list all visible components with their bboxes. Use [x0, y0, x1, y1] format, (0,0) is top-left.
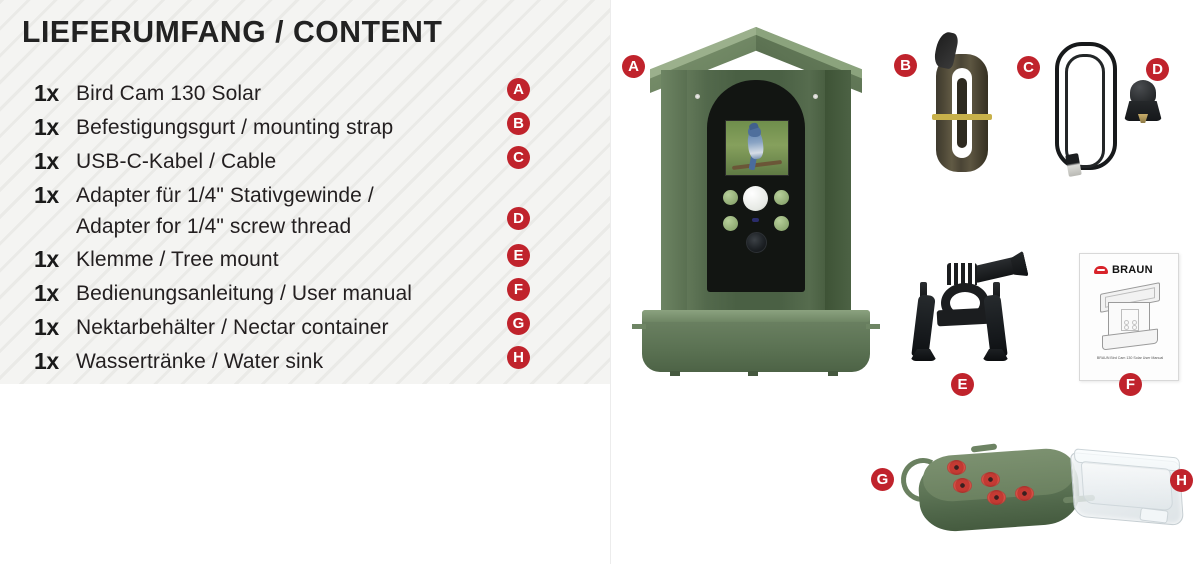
housing-screw	[695, 94, 700, 99]
item-label: Klemme / Tree mount	[76, 244, 504, 275]
item-quantity: 1x	[34, 78, 76, 109]
figure-water-sink: H	[1066, 445, 1191, 545]
mount-leg-left	[911, 294, 935, 358]
item-quantity: 1x	[34, 180, 76, 211]
nectar-flower-port	[981, 472, 1000, 487]
figure-badge-c: C	[1017, 56, 1040, 79]
figure-badge-f: F	[1119, 373, 1142, 396]
figure-tree-mount: E	[899, 253, 1029, 373]
trough-foot	[670, 371, 680, 376]
status-led	[752, 218, 759, 222]
strap-coil	[936, 54, 988, 172]
item-quantity: 1x	[34, 346, 76, 377]
list-badge-b: B	[507, 112, 530, 135]
item-quantity: 1x	[34, 112, 76, 143]
trough-foot	[748, 371, 758, 376]
manual-product-drawing	[1100, 282, 1162, 350]
control-button-top-right[interactable]	[774, 190, 789, 205]
item-names: Nektarbehälter / Nectar container	[76, 312, 574, 343]
lcd-screen	[725, 120, 789, 176]
trough-arm-left	[632, 324, 646, 329]
item-names: Befestigungsgurt / mounting strap	[76, 112, 574, 143]
control-button-bottom-right[interactable]	[774, 216, 789, 231]
item-quantity: 1x	[34, 146, 76, 177]
item-names: Adapter für 1/4" Stativgewinde / Adapter…	[76, 180, 574, 242]
list-item: 1x Befestigungsgurt / mounting strap B	[34, 112, 574, 144]
list-badge-g: G	[507, 312, 530, 335]
figure-badge-g: G	[871, 468, 894, 491]
figure-badge-a: A	[622, 55, 645, 78]
figure-mounting-strap: B	[916, 32, 1008, 182]
nectar-flower-port	[947, 460, 966, 475]
nectar-tab-left	[971, 443, 998, 452]
content-list: 1x Bird Cam 130 Solar A 1x Befestigungsg…	[34, 78, 574, 380]
mount-arm-cap	[1009, 251, 1028, 279]
list-item: 1x Klemme / Tree mount E	[34, 244, 574, 276]
item-names: Bird Cam 130 Solar	[76, 78, 574, 109]
figure-user-manual: F BRAUN BRAUN Bird Cam 130 Solar U	[1071, 253, 1189, 385]
list-item: 1x USB-C-Kabel / Cable C	[34, 146, 574, 178]
nectar-flower-port	[953, 478, 972, 493]
figure-badge-b: B	[894, 54, 917, 77]
item-label: Bedienungsanleitung / User manual	[76, 278, 504, 309]
trough-foot	[828, 371, 838, 376]
figure-tripod-adapter: D	[1118, 80, 1170, 140]
item-label: Adapter für 1/4" Stativgewinde /	[76, 180, 504, 211]
mount-leg-right	[983, 294, 1007, 358]
cable-inner-loop	[1065, 54, 1105, 168]
list-badge-f: F	[507, 278, 530, 301]
brand-name: BRAUN	[1112, 264, 1153, 276]
item-label: Wassertränke / Water sink	[76, 346, 504, 377]
braun-arc-icon	[1094, 266, 1108, 274]
list-badge-a: A	[507, 78, 530, 101]
brand-logo: BRAUN	[1094, 264, 1153, 276]
figure-badge-d: D	[1146, 58, 1169, 81]
nectar-flower-port	[987, 490, 1006, 505]
item-names: Bedienungsanleitung / User manual	[76, 278, 574, 309]
pir-sensor-dome	[743, 186, 768, 211]
item-label: Bird Cam 130 Solar	[76, 78, 504, 109]
list-item: 1x Nektarbehälter / Nectar container G	[34, 312, 574, 344]
item-label: USB-C-Kabel / Cable	[76, 146, 504, 177]
item-quantity: 1x	[34, 244, 76, 275]
mount-clamp-base	[937, 308, 992, 327]
list-badge-h: H	[507, 346, 530, 369]
item-label-second-line: Adapter for 1/4" screw thread	[76, 211, 504, 242]
bird-cam-housing	[661, 70, 851, 320]
figure-badge-h: H	[1170, 469, 1193, 492]
housing-right-post	[825, 70, 851, 320]
water-sink-basin	[1081, 461, 1174, 511]
mount-hinge-fingers	[947, 263, 977, 285]
list-badge-d: D	[507, 207, 530, 230]
housing-left-post	[661, 70, 687, 320]
list-item: 1x Wassertränke / Water sink H	[34, 346, 574, 378]
list-item: 1x Bedienungsanleitung / User manual F	[34, 278, 574, 310]
list-badge-e: E	[507, 244, 530, 267]
nectar-flower-port	[1015, 486, 1034, 501]
product-figures-panel: A	[610, 0, 1197, 564]
drawing-front-panel	[1121, 309, 1139, 331]
content-list-panel: LIEFERUMFANG / CONTENT 1x Bird Cam 130 S…	[0, 0, 610, 384]
branch-shape	[732, 160, 782, 170]
control-button-bottom-left[interactable]	[723, 216, 738, 231]
list-item: 1x Adapter für 1/4" Stativgewinde / Adap…	[34, 180, 574, 242]
drawing-button	[1132, 325, 1137, 330]
bird-cam-front-panel	[707, 80, 805, 292]
list-item: 1x Bird Cam 130 Solar A	[34, 78, 574, 110]
item-label: Befestigungsgurt / mounting strap	[76, 112, 504, 143]
item-names: USB-C-Kabel / Cable	[76, 146, 574, 177]
item-names: Klemme / Tree mount	[76, 244, 574, 275]
feeding-trough	[642, 310, 870, 372]
trough-arm-right	[866, 324, 880, 329]
list-badge-c: C	[507, 146, 530, 169]
adapter-screw-thread	[1138, 114, 1148, 123]
item-names: Wassertränke / Water sink	[76, 346, 574, 377]
figure-badge-e: E	[951, 373, 974, 396]
item-label: Nektarbehälter / Nectar container	[76, 312, 504, 343]
item-quantity: 1x	[34, 278, 76, 309]
housing-screw	[813, 94, 818, 99]
drawing-button	[1124, 325, 1129, 330]
manual-caption: BRAUN Bird Cam 130 Solar User Manual	[1086, 356, 1174, 361]
figure-bird-cam: A	[634, 22, 879, 382]
trough-lip	[642, 310, 870, 322]
manual-cover: BRAUN BRAUN Bird Cam 130 Solar User Manu…	[1079, 253, 1179, 381]
strap-coil-core	[957, 78, 967, 148]
camera-lens	[746, 232, 767, 253]
control-button-top-left[interactable]	[723, 190, 738, 205]
item-quantity: 1x	[34, 312, 76, 343]
page-title: LIEFERUMFANG / CONTENT	[22, 14, 442, 50]
strap-tie-band	[932, 114, 992, 120]
